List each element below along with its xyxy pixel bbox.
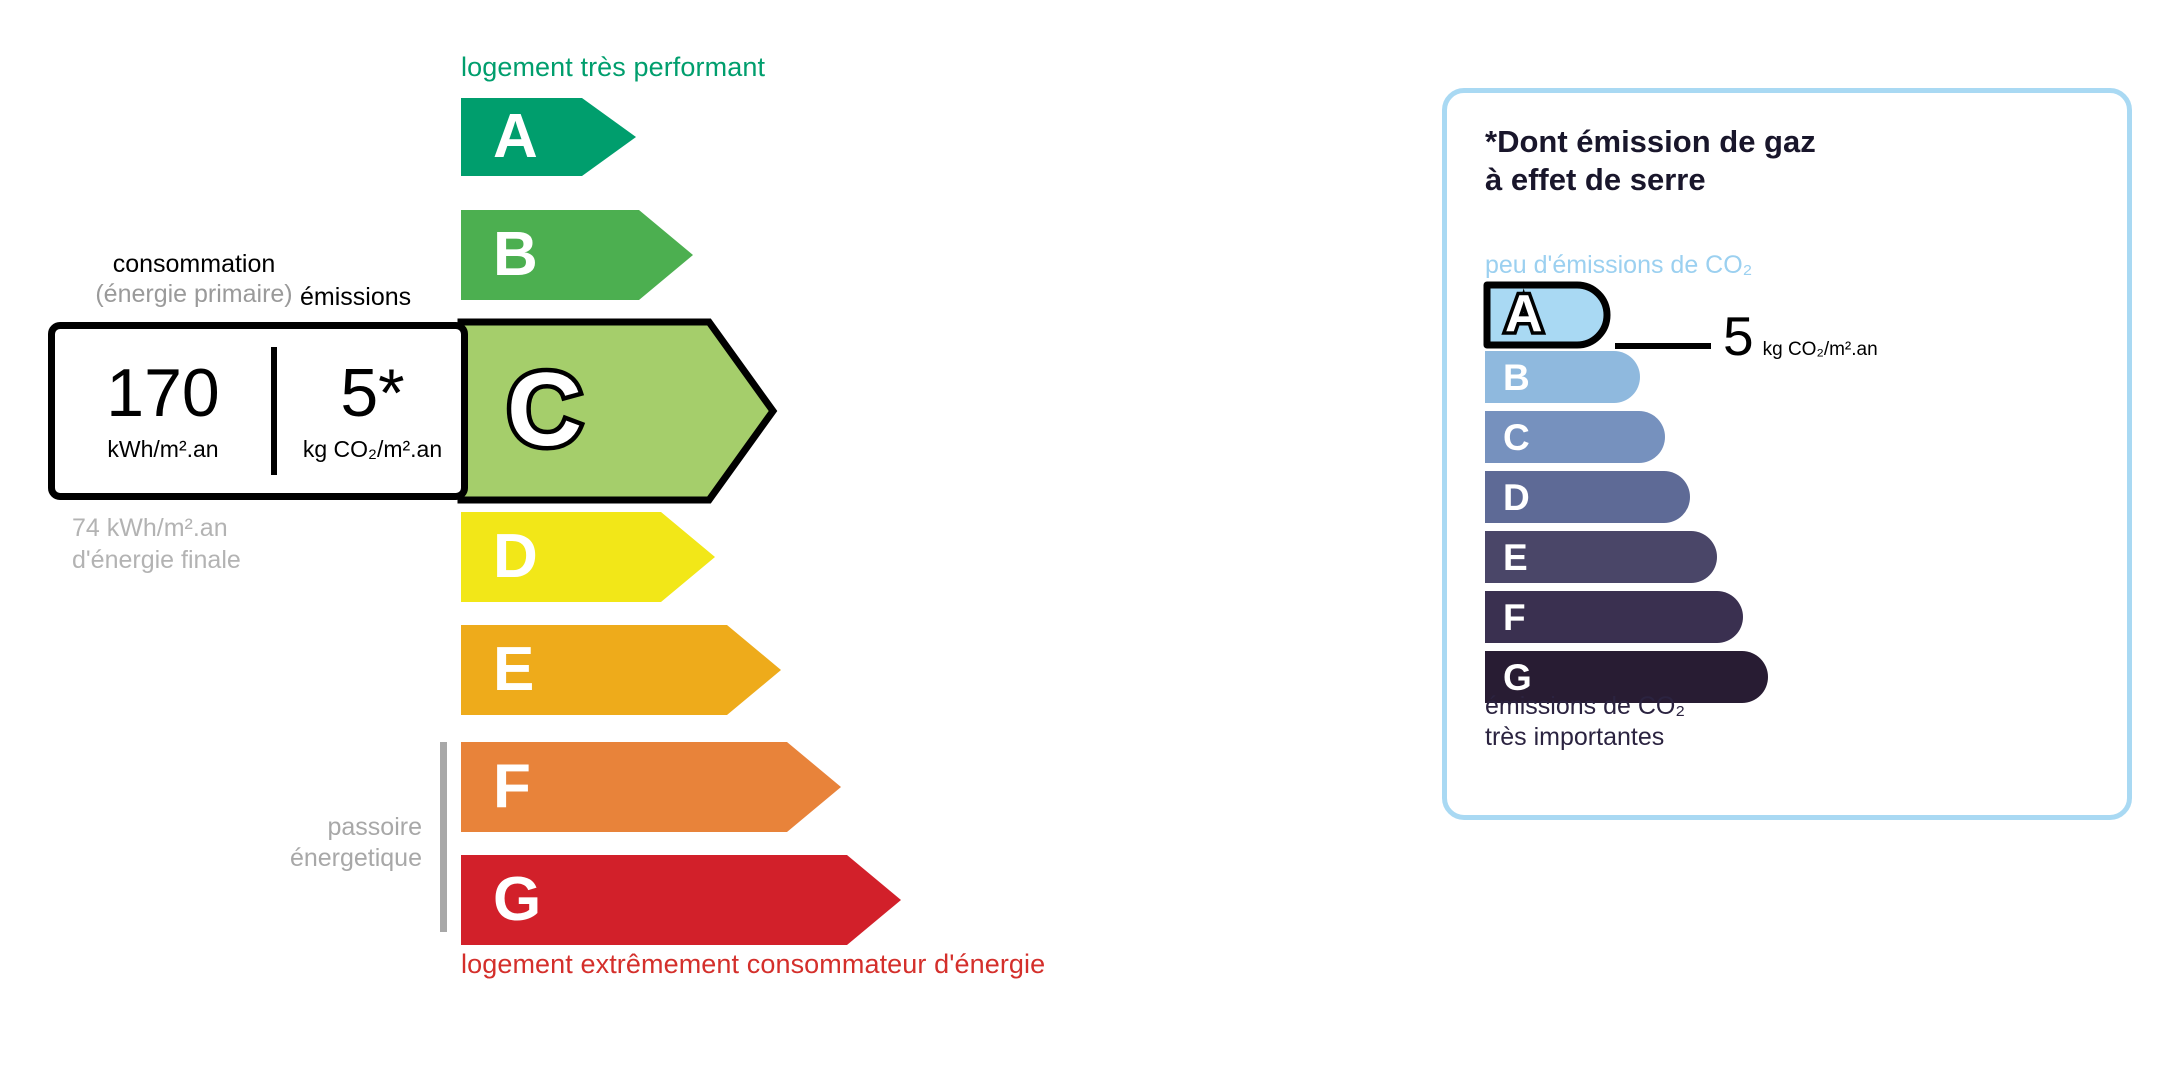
passoire-bracket bbox=[440, 742, 447, 932]
passoire-label: passoire énergetique bbox=[200, 812, 422, 875]
consumption-unit: kWh/m².an bbox=[107, 436, 218, 463]
ges-bar-letter: C bbox=[1503, 419, 1530, 456]
ges-bottom-caption: émissions de CO₂ très importantes bbox=[1485, 691, 1685, 752]
energy-performance-scale: logement très performant ABCDEFG logemen… bbox=[0, 0, 1400, 1079]
ges-top-caption: peu d'émissions de CO₂ bbox=[1485, 251, 1752, 280]
energy-arrow-c[interactable]: C bbox=[461, 322, 783, 510]
ges-bar-a[interactable]: A bbox=[1483, 281, 1615, 353]
ges-bar-d[interactable]: D bbox=[1485, 471, 1690, 523]
ges-bar-letter: A bbox=[1505, 285, 1543, 343]
passoire-line2: énergetique bbox=[200, 843, 422, 874]
final-energy-line1: 74 kWh/m².an bbox=[72, 512, 241, 544]
dpe-diagram: logement très performant ABCDEFG logemen… bbox=[0, 0, 2169, 1079]
ges-bar-b[interactable]: B bbox=[1485, 351, 1640, 403]
energy-arrow-letter: F bbox=[493, 756, 531, 818]
ges-bar-letter: G bbox=[1503, 659, 1532, 696]
scale-bottom-caption: logement extrêmement consommateur d'éner… bbox=[461, 949, 1045, 980]
emissions-unit: kg CO₂/m².an bbox=[303, 436, 442, 463]
ges-bar-letter: D bbox=[1503, 479, 1530, 516]
emissions-label: émissions bbox=[300, 283, 411, 312]
ges-value-number: 5 bbox=[1723, 309, 1754, 364]
energy-arrow-letter: E bbox=[493, 639, 534, 701]
ges-bar-letter: B bbox=[1503, 359, 1530, 396]
energy-arrow-g[interactable]: G bbox=[461, 855, 901, 945]
ges-callout-value: 5 kg CO₂/m².an bbox=[1723, 309, 1878, 364]
ges-bottom-line2: très importantes bbox=[1485, 722, 1685, 753]
ges-panel: *Dont émission de gaz à effet de serre p… bbox=[1442, 88, 2132, 820]
consumption-label-sub: (énergie primaire) bbox=[64, 280, 324, 310]
ges-panel-title: *Dont émission de gaz à effet de serre bbox=[1485, 123, 1816, 199]
consumption-cell: 170 kWh/m².an bbox=[55, 329, 271, 493]
ges-title-line1: *Dont émission de gaz bbox=[1485, 123, 1816, 161]
ges-bar-f[interactable]: F bbox=[1485, 591, 1743, 643]
ges-bottom-line1: émissions de CO₂ bbox=[1485, 691, 1685, 722]
ges-title-line2: à effet de serre bbox=[1485, 161, 1816, 199]
energy-arrow-d[interactable]: D bbox=[461, 512, 715, 602]
energy-arrow-letter: A bbox=[493, 106, 538, 168]
energy-arrow-a[interactable]: A bbox=[461, 98, 636, 176]
consumption-label-main: consommation bbox=[113, 250, 276, 278]
consumption-value: 170 bbox=[106, 359, 219, 427]
passoire-line1: passoire bbox=[200, 812, 422, 843]
ges-bar-e[interactable]: E bbox=[1485, 531, 1717, 583]
energy-arrow-b[interactable]: B bbox=[461, 210, 693, 300]
energy-arrow-letter: B bbox=[493, 224, 538, 286]
ges-bar-c[interactable]: C bbox=[1485, 411, 1665, 463]
energy-arrow-e[interactable]: E bbox=[461, 625, 781, 715]
ges-bar-letter: F bbox=[1503, 599, 1526, 636]
consumption-label: consommation (énergie primaire) bbox=[64, 250, 324, 309]
ges-bar-letter: E bbox=[1503, 539, 1528, 576]
ges-callout-leader-line bbox=[1615, 343, 1711, 349]
final-energy-note: 74 kWh/m².an d'énergie finale bbox=[72, 512, 241, 576]
value-box: 170 kWh/m².an 5* kg CO₂/m².an bbox=[48, 322, 468, 500]
energy-arrow-letter: G bbox=[493, 869, 541, 931]
scale-top-caption: logement très performant bbox=[461, 52, 765, 83]
energy-arrow-letter: C bbox=[507, 352, 582, 468]
energy-arrow-f[interactable]: F bbox=[461, 742, 841, 832]
emissions-cell: 5* kg CO₂/m².an bbox=[277, 329, 468, 493]
final-energy-line2: d'énergie finale bbox=[72, 544, 241, 576]
emissions-value: 5* bbox=[340, 359, 404, 427]
energy-arrow-letter: D bbox=[493, 526, 538, 588]
ges-value-unit: kg CO₂/m².an bbox=[1763, 339, 1878, 361]
